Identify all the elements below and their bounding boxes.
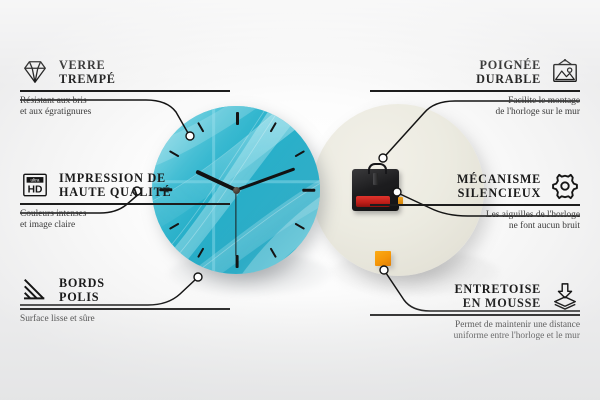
foam-spacer — [375, 251, 391, 266]
callout-header: POIGNÉE DURABLE — [370, 58, 580, 86]
callout-header: ENTRETOISE EN MOUSSE — [370, 282, 580, 310]
clock-tick — [302, 189, 315, 192]
callout-title: ENTRETOISE EN MOUSSE — [454, 282, 541, 310]
callout-impression-haute-qualite[interactable]: ultra HD IMPRESSION DE HAUTE QUALITÉ Cou… — [20, 171, 230, 232]
callout-title: MÉCANISME SILENCIEUX — [457, 172, 541, 200]
svg-text:HD: HD — [28, 185, 43, 196]
callout-header: ultra HD IMPRESSION DE HAUTE QUALITÉ — [20, 171, 230, 199]
callout-description: Les aiguilles de l'horloge ne font aucun… — [370, 210, 580, 233]
hanging-frame-icon — [550, 58, 580, 86]
gear-icon — [550, 172, 580, 200]
callout-description: Facilite le montage de l'horloge sur le … — [370, 96, 580, 119]
callout-header: BORDS POLIS — [20, 276, 230, 304]
callout-mecanisme-silencieux[interactable]: MÉCANISME SILENCIEUX Les aiguilles de l'… — [370, 172, 580, 233]
callout-title: IMPRESSION DE HAUTE QUALITÉ — [59, 171, 171, 199]
clock-tick — [236, 255, 239, 268]
callout-rule — [370, 204, 580, 206]
foam-spacer-icon — [550, 282, 580, 310]
callout-description: Résistant aux bris et aux égratignures — [20, 96, 230, 119]
callout-rule — [20, 203, 230, 205]
callout-verre-trempe[interactable]: VERRE TREMPÉ Résistant aux bris et aux é… — [20, 58, 230, 119]
callout-entretoise-en-mousse[interactable]: ENTRETOISE EN MOUSSE Permet de maintenir… — [370, 282, 580, 343]
callout-rule — [20, 90, 230, 92]
product-infographic: VERRE TREMPÉ Résistant aux bris et aux é… — [0, 0, 600, 400]
svg-text:ultra: ultra — [30, 178, 39, 183]
callout-header: VERRE TREMPÉ — [20, 58, 230, 86]
callout-description: Permet de maintenir une distance uniform… — [370, 320, 580, 343]
polished-edges-icon — [20, 276, 50, 304]
callout-title: POIGNÉE DURABLE — [476, 58, 541, 86]
callout-header: MÉCANISME SILENCIEUX — [370, 172, 580, 200]
clock-center-pin — [233, 187, 240, 194]
callout-title: VERRE TREMPÉ — [59, 58, 116, 86]
callout-poignee-durable[interactable]: POIGNÉE DURABLE Facilite le montage de l… — [370, 58, 580, 119]
callout-title: BORDS POLIS — [59, 276, 105, 304]
callout-rule — [370, 90, 580, 92]
callout-description: Couleurs intenses et image claire — [20, 209, 230, 232]
callout-bords-polis[interactable]: BORDS POLIS Surface lisse et sûre — [20, 276, 230, 325]
clock-tick — [236, 112, 239, 125]
ultra-hd-icon: ultra HD — [20, 171, 50, 199]
callout-description: Surface lisse et sûre — [20, 314, 230, 325]
diamond-icon — [20, 58, 50, 86]
callout-rule — [20, 308, 230, 310]
callout-rule — [370, 314, 580, 316]
